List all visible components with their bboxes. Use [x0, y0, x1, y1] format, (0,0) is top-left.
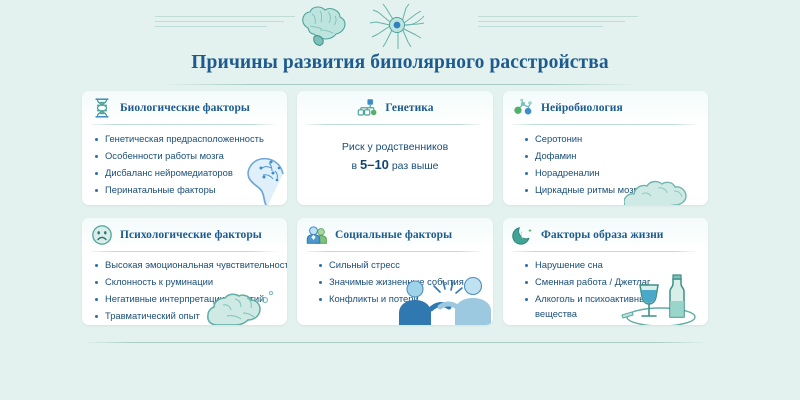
header-rule-left: [155, 16, 295, 32]
title-divider: [160, 84, 640, 85]
list-item: Нарушение сна: [525, 258, 699, 273]
stat-value: 5–10: [360, 157, 389, 172]
card-title: Генетика: [385, 102, 433, 114]
list-item: Особенности работы мозга: [95, 149, 278, 164]
list-item: Конфликты и потери: [319, 292, 484, 307]
card-neurobiology[interactable]: Нейробиология Серотонин Дофамин Норадрен…: [503, 91, 708, 205]
neuron-nucleus: [394, 22, 401, 29]
card-biological-factors[interactable]: Биологические факторы Генетическая предр…: [82, 91, 287, 205]
card-psychological-factors[interactable]: Психологические факторы Высокая эмоциона…: [82, 218, 287, 325]
two-people-icon: [306, 224, 328, 246]
stat-prefix: в: [351, 160, 360, 172]
list-item: Циркадные ритмы мозга: [525, 183, 699, 198]
cards-row-bottom: Психологические факторы Высокая эмоциона…: [82, 218, 708, 325]
infographic-page: Причины развития биполярного расстройств…: [0, 0, 800, 400]
cards-row-top: Биологические факторы Генетическая предр…: [82, 91, 708, 205]
stat-line-1: Риск у родственников: [307, 139, 483, 156]
card-lifestyle-factors[interactable]: Факторы образа жизни Нарушение сна Сменн…: [503, 218, 708, 325]
card-header: Социальные факторы: [297, 218, 493, 251]
card-title: Психологические факторы: [120, 229, 262, 241]
list-item: Перинатальные факторы: [95, 183, 278, 198]
list-item: Норадреналин: [525, 166, 699, 181]
card-bullet-list: Генетическая предрасположенность Особенн…: [82, 125, 287, 198]
dna-icon: [91, 97, 113, 119]
list-item: Склонность к руминации: [95, 275, 278, 290]
list-item: Сменная работа / Джетлаг: [525, 275, 699, 290]
family-tree-icon: [356, 97, 378, 119]
card-bullet-list: Серотонин Дофамин Норадреналин Циркадные…: [503, 125, 708, 198]
card-bullet-list: Высокая эмоциональная чувствительность С…: [82, 252, 287, 324]
card-header: Факторы образа жизни: [503, 218, 708, 251]
genetics-stat: Риск у родственников в 5–10 раз выше: [297, 125, 493, 175]
list-item: Высокая эмоциональная чувствительность: [95, 258, 278, 273]
list-item: Значимые жизненные события: [319, 275, 484, 290]
stat-suffix: раз выше: [389, 160, 439, 172]
brain-neuron-artwork: [290, 2, 510, 50]
card-bullet-list: Сильный стресс Значимые жизненные событи…: [297, 252, 493, 307]
card-title: Нейробиология: [541, 102, 623, 114]
list-item: Травматический опыт: [95, 309, 278, 324]
card-header: Биологические факторы: [82, 91, 287, 124]
stat-line-2: в 5–10 раз выше: [307, 156, 483, 175]
card-title: Биологические факторы: [120, 102, 250, 114]
card-title: Факторы образа жизни: [541, 229, 663, 241]
card-genetics[interactable]: Генетика Риск у родственников в 5–10 раз…: [297, 91, 493, 205]
list-item: Серотонин: [525, 132, 699, 147]
page-title: Причины развития биполярного расстройств…: [0, 52, 800, 74]
list-item: Генетическая предрасположенность: [95, 132, 278, 147]
list-item: Сильный стресс: [319, 258, 484, 273]
card-social-factors[interactable]: Социальные факторы Сильный стресс Значим…: [297, 218, 493, 325]
list-item: Дофамин: [525, 149, 699, 164]
crescent-moon-icon: [512, 224, 534, 246]
cards-grid: Биологические факторы Генетическая предр…: [82, 91, 708, 325]
sad-face-icon: [91, 224, 113, 246]
card-title: Социальные факторы: [335, 229, 452, 241]
footer-divider: [82, 342, 708, 343]
card-header: Генетика: [297, 91, 493, 124]
card-header: Психологические факторы: [82, 218, 287, 251]
card-header: Нейробиология: [503, 91, 708, 124]
molecule-icon: [512, 97, 534, 119]
header-decoration: [0, 0, 800, 52]
list-item: Алкоголь и психоактивные вещества: [525, 292, 657, 321]
card-bullet-list: Нарушение сна Сменная работа / Джетлаг А…: [503, 252, 708, 321]
brain-icon: [303, 7, 345, 45]
list-item: Дисбаланс нейромедиаторов: [95, 166, 278, 181]
list-item: Негативные интерпретации событий: [95, 292, 278, 307]
